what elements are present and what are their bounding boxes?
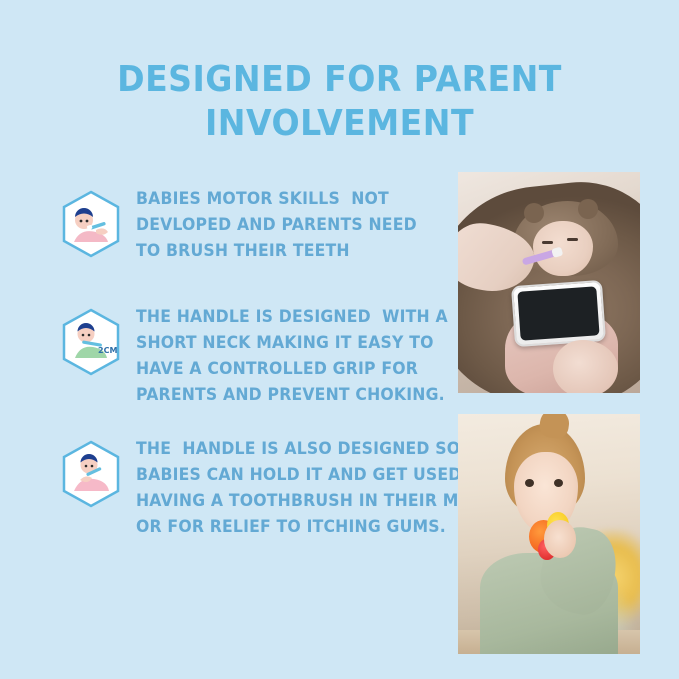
photo-1-phone-screen <box>517 286 600 341</box>
baby-holding-toothbrush-icon <box>60 440 122 508</box>
feature-3-line-2: BABIES CAN HOLD IT AND GET USED TO <box>136 462 434 488</box>
feature-1-line-1: BABIES MOTOR SKILLS NOT <box>136 186 434 212</box>
feature-list: BABIES MOTOR SKILLS NOT DEVLOPED AND PAR… <box>60 186 450 562</box>
feature-2-line-4: PARENTS AND PREVENT CHOKING. <box>136 382 434 408</box>
feature-text-2: THE HANDLE IS DESIGNED WITH A SHORT NECK… <box>136 304 434 408</box>
photo-1-hood-ear-left <box>524 203 544 223</box>
photo-2-toddler-hand <box>544 520 577 558</box>
feature-text-1: BABIES MOTOR SKILLS NOT DEVLOPED AND PAR… <box>136 186 434 264</box>
short-neck-handle-2cm-icon: 2CM <box>60 308 122 376</box>
page-title-line-2: INVOLVEMENT <box>27 102 652 146</box>
feature-1-line-3: TO BRUSH THEIR TEETH <box>136 238 434 264</box>
parent-brushing-baby-teeth-icon <box>60 190 122 258</box>
photo-1-baby-face <box>533 221 593 276</box>
feature-3-line-1: THE HANDLE IS ALSO DESIGNED SO <box>136 436 434 462</box>
photo-toddler-holding-teether <box>458 414 640 654</box>
feature-3-line-3: HAVING A TOOTHBRUSH IN THEIR MOUTH <box>136 488 434 514</box>
photo-baby-in-towel-being-brushed <box>458 172 640 393</box>
feature-2-line-1: THE HANDLE IS DESIGNED WITH A <box>136 304 434 330</box>
page-title: DESIGNED FOR PARENT INVOLVEMENT <box>27 58 652 146</box>
feature-2-line-2: SHORT NECK MAKING IT EASY TO <box>136 330 434 356</box>
page-title-line-1: DESIGNED FOR PARENT <box>27 58 652 102</box>
photo-1-phone <box>511 279 606 347</box>
badge-2cm-label: 2CM <box>98 346 117 355</box>
feature-item-3: THE HANDLE IS ALSO DESIGNED SO BABIES CA… <box>60 436 450 540</box>
photo-1-hood-ear-right <box>578 199 598 219</box>
photo-1-baby-eye-left <box>542 241 553 244</box>
feature-2-line-3: HAVE A CONTROLLED GRIP FOR <box>136 356 434 382</box>
feature-item-1: BABIES MOTOR SKILLS NOT DEVLOPED AND PAR… <box>60 186 450 282</box>
feature-3-line-4: OR FOR RELIEF TO ITCHING GUMS. <box>136 514 434 540</box>
feature-1-line-2: DEVLOPED AND PARENTS NEED <box>136 212 434 238</box>
photo-1-baby-eye-right <box>567 238 578 241</box>
infographic-page: DESIGNED FOR PARENT INVOLVEMENT <box>0 0 679 679</box>
feature-text-3: THE HANDLE IS ALSO DESIGNED SO BABIES CA… <box>136 436 434 540</box>
feature-item-2: 2CM THE HANDLE IS DESIGNED WITH A SHORT … <box>60 304 450 408</box>
